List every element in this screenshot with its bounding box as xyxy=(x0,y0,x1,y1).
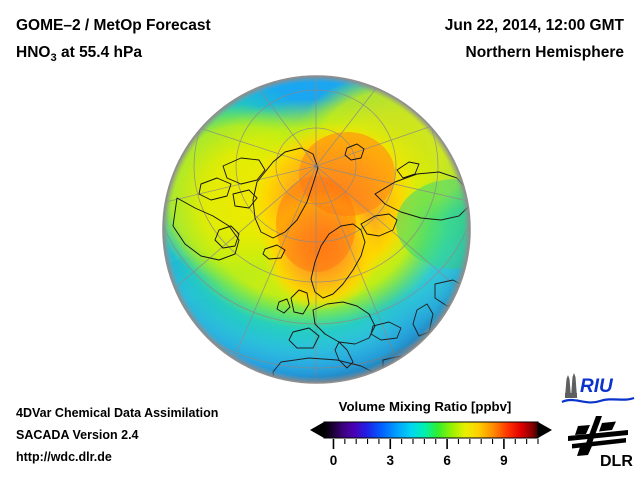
instrument-title: GOME–2 / MetOp Forecast xyxy=(16,12,211,39)
colorbar-tick-label: 6 xyxy=(443,453,451,468)
colorbar-title: Volume Mixing Ratio [ppbv] xyxy=(306,399,544,414)
colorbar: Volume Mixing Ratio [ppbv] 0369 xyxy=(306,399,556,471)
riu-wordmark: RIU xyxy=(580,376,614,397)
riu-logo-svg: RIU xyxy=(560,371,636,409)
dlr-wordmark: DLR xyxy=(600,453,633,470)
colorbar-tick-label: 3 xyxy=(387,453,395,468)
dlr-logo: DLR xyxy=(566,414,636,472)
visualization-page: GOME–2 / MetOp Forecast HNO3 at 55.4 hPa… xyxy=(0,0,640,480)
datetime-label: Jun 22, 2014, 12:00 GMT xyxy=(445,12,624,39)
globe-map xyxy=(161,74,472,385)
riu-logo: RIU xyxy=(560,371,636,409)
credit-line-2: SACADA Version 2.4 xyxy=(16,424,218,446)
colorbar-svg: 0369 xyxy=(306,419,556,471)
dlr-logo-svg: DLR xyxy=(566,414,636,472)
globe-rim-glow xyxy=(163,76,470,383)
header-right: Jun 22, 2014, 12:00 GMT Northern Hemisph… xyxy=(445,12,624,66)
north-pole-marker xyxy=(314,164,317,167)
colorbar-ticks xyxy=(333,439,538,449)
colorbar-tick-label: 9 xyxy=(500,453,508,468)
colorbar-gradient-bar xyxy=(324,422,538,438)
region-label: Northern Hemisphere xyxy=(445,39,624,66)
header-left: GOME–2 / MetOp Forecast HNO3 at 55.4 hPa xyxy=(16,12,211,72)
colorbar-tick-labels: 0369 xyxy=(330,453,508,468)
cathedral-icon xyxy=(565,373,577,398)
credit-line-1: 4DVar Chemical Data Assimilation xyxy=(16,402,218,424)
colorbar-left-arrow xyxy=(310,422,324,438)
species-prefix: HNO xyxy=(16,44,50,61)
colorbar-tick-label: 0 xyxy=(330,453,338,468)
globe-svg xyxy=(161,74,472,385)
colorbar-right-arrow xyxy=(538,422,552,438)
credit-line-3: http://wdc.dlr.de xyxy=(16,446,218,468)
dlr-emblem-icon xyxy=(568,416,628,456)
coast-red-sea xyxy=(377,374,401,385)
credits-block: 4DVar Chemical Data Assimilation SACADA … xyxy=(16,402,218,468)
species-suffix: at 55.4 hPa xyxy=(57,44,142,61)
riu-wave xyxy=(562,398,634,402)
species-title: HNO3 at 55.4 hPa xyxy=(16,39,211,72)
